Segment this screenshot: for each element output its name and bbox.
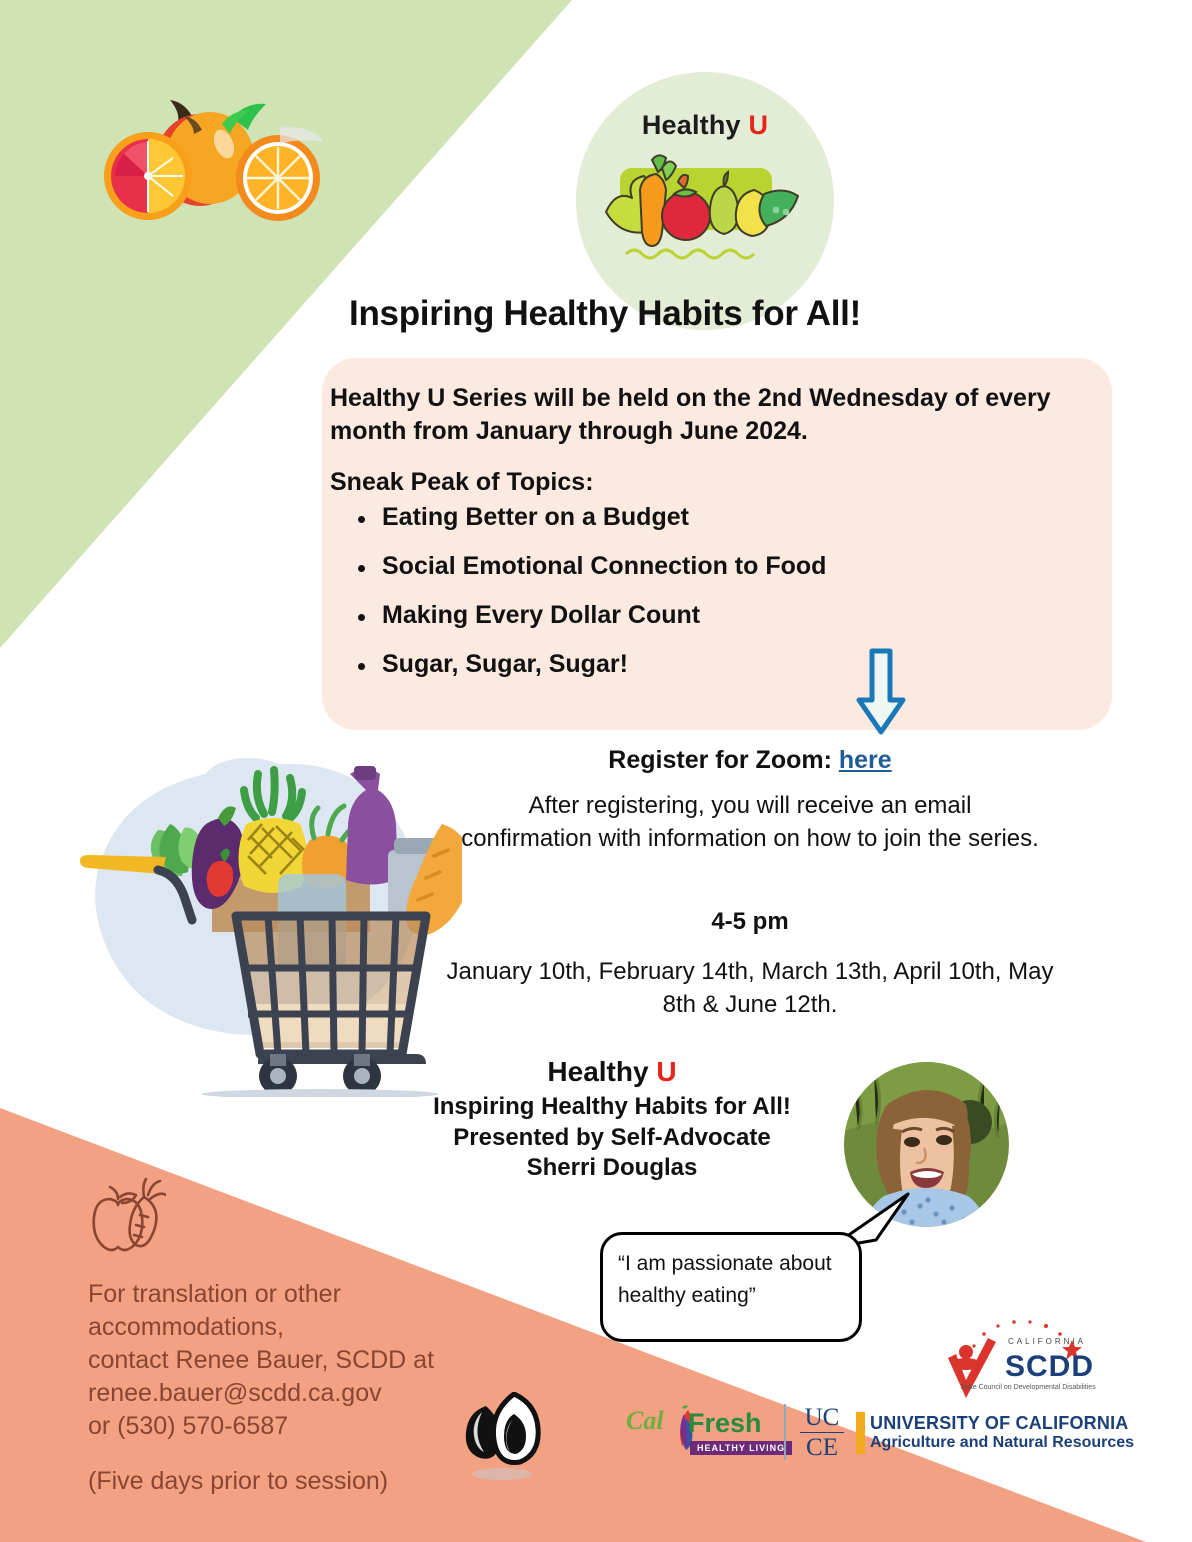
uc-accent-bar bbox=[856, 1412, 865, 1454]
flyer-poster: Healthy U Inspiring H bbox=[0, 0, 1192, 1542]
presenter-name: Sherri Douglas bbox=[392, 1153, 832, 1184]
ucce-bottom: CE bbox=[796, 1434, 848, 1461]
session-time: 4-5 pm bbox=[460, 908, 1040, 936]
uc-name: UNIVERSITY OF CALIFORNIA bbox=[870, 1413, 1128, 1434]
presenter-brand: Healthy U bbox=[392, 1056, 832, 1088]
series-schedule-text: Healthy U Series will be held on the 2nd… bbox=[330, 382, 1060, 448]
contact-email[interactable]: renee.bauer@scdd.ca.gov bbox=[88, 1377, 488, 1410]
list-item: Social Emotional Connection to Food bbox=[356, 554, 1060, 579]
uc-division: Agriculture and Natural Resources bbox=[870, 1434, 1134, 1452]
badge-title: Healthy U bbox=[576, 110, 834, 141]
presenter-brand-main: Healthy bbox=[547, 1056, 648, 1087]
presenter-brand-accent: U bbox=[656, 1056, 676, 1087]
contact-line-1: For translation or other bbox=[88, 1278, 488, 1311]
contact-notice: (Five days prior to session) bbox=[88, 1465, 488, 1498]
register-note: After registering, you will receive an e… bbox=[460, 790, 1040, 855]
ucce-logo: UC CE bbox=[796, 1404, 848, 1461]
citrus-fruit-illustration bbox=[82, 88, 330, 233]
info-panel-content: Healthy U Series will be held on the 2nd… bbox=[330, 382, 1060, 701]
topics-list: Eating Better on a Budget Social Emotion… bbox=[330, 505, 1060, 677]
vegetables-basket-illustration bbox=[604, 154, 806, 284]
list-item: Making Every Dollar Count bbox=[356, 603, 1060, 628]
ucce-rule bbox=[800, 1432, 844, 1433]
register-label: Register for Zoom: bbox=[608, 746, 832, 774]
presenter-tagline-2: Presented by Self-Advocate bbox=[392, 1123, 832, 1154]
scdd-tagline: State Council on Developmental Disabilit… bbox=[952, 1384, 1104, 1391]
avocado-illustration bbox=[452, 1392, 548, 1484]
shopping-cart-illustration bbox=[62, 752, 462, 1097]
apple-carrot-icon bbox=[84, 1175, 166, 1253]
page-title: Inspiring Healthy Habits for All! bbox=[0, 294, 1192, 334]
register-line: Register for Zoom: here bbox=[450, 746, 1050, 775]
contact-line-2: accommodations, bbox=[88, 1311, 488, 1344]
presenter-block: Healthy U Inspiring Healthy Habits for A… bbox=[392, 1056, 832, 1184]
contact-line-3: contact Renee Bauer, SCDD at bbox=[88, 1344, 488, 1377]
healthy-u-badge: Healthy U bbox=[576, 72, 834, 330]
session-dates: January 10th, February 14th, March 13th,… bbox=[440, 955, 1060, 1021]
logo-divider bbox=[784, 1404, 786, 1460]
calfresh-cal-word: Cal bbox=[626, 1406, 664, 1436]
presenter-tagline-1: Inspiring Healthy Habits for All! bbox=[392, 1092, 832, 1123]
ucce-top: UC bbox=[796, 1404, 848, 1431]
topics-heading: Sneak Peak of Topics: bbox=[330, 468, 1060, 497]
scdd-state-label: CALIFORNIA bbox=[1008, 1337, 1086, 1346]
badge-title-main: Healthy bbox=[642, 110, 741, 140]
list-item: Sugar, Sugar, Sugar! bbox=[356, 652, 1060, 677]
calfresh-fresh-word: Fresh bbox=[688, 1408, 762, 1439]
presenter-quote: “I am passionate about healthy eating” bbox=[618, 1248, 848, 1311]
badge-title-accent: U bbox=[748, 110, 768, 140]
zoom-register-link[interactable]: here bbox=[839, 746, 892, 774]
scdd-acronym: SCDD bbox=[1005, 1350, 1094, 1384]
contact-phone: or (530) 570-6587 bbox=[88, 1410, 488, 1443]
arrow-down-icon bbox=[855, 648, 907, 736]
list-item: Eating Better on a Budget bbox=[356, 505, 1060, 530]
calfresh-healthy-living-badge: HEALTHY LIVING bbox=[690, 1441, 792, 1455]
contact-info: For translation or other accommodations,… bbox=[88, 1278, 488, 1498]
